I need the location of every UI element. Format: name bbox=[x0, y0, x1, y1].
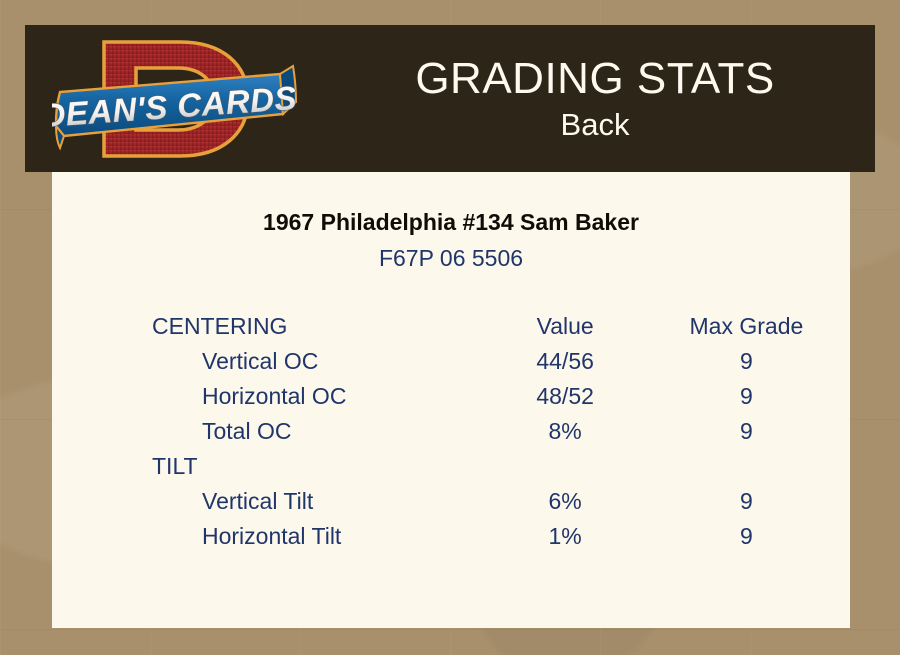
header-title-group: GRADING STATS Back bbox=[315, 25, 875, 172]
card-code: F67P 06 5506 bbox=[52, 243, 850, 273]
section-row-tilt: TILT bbox=[52, 449, 850, 484]
row-value-horizontal-oc: 48/52 bbox=[487, 379, 642, 414]
section-header-centering: CENTERING bbox=[52, 309, 487, 344]
page-subtitle: Back bbox=[561, 105, 630, 145]
header-bar: DEAN'S CARDS GRADING STATS Back bbox=[25, 25, 875, 172]
row-max-grade-horizontal-oc: 9 bbox=[643, 379, 850, 414]
row-label-total-oc: Total OC bbox=[52, 414, 487, 449]
row-label-horizontal-oc: Horizontal OC bbox=[52, 379, 487, 414]
row-value-total-oc: 8% bbox=[487, 414, 642, 449]
logo-artwork: DEAN'S CARDS bbox=[52, 30, 302, 168]
content-panel: 1967 Philadelphia #134 Sam Baker F67P 06… bbox=[52, 172, 850, 628]
column-header-max-grade: Max Grade bbox=[643, 309, 850, 344]
table-row: Horizontal Tilt 1% 9 bbox=[52, 519, 850, 554]
column-header-value: Value bbox=[487, 309, 642, 344]
row-max-grade-horizontal-tilt: 9 bbox=[643, 519, 850, 554]
row-value-vertical-tilt: 6% bbox=[487, 484, 642, 519]
table-row: Vertical OC 44/56 9 bbox=[52, 344, 850, 379]
table-header-row: CENTERING Value Max Grade bbox=[52, 309, 850, 344]
row-max-grade-vertical-tilt: 9 bbox=[643, 484, 850, 519]
row-value-horizontal-tilt: 1% bbox=[487, 519, 642, 554]
row-max-grade-vertical-oc: 9 bbox=[643, 344, 850, 379]
section-spacer-value bbox=[487, 449, 642, 484]
section-header-tilt: TILT bbox=[52, 449, 487, 484]
page-title: GRADING STATS bbox=[415, 53, 774, 105]
card-title: 1967 Philadelphia #134 Sam Baker bbox=[52, 207, 850, 237]
row-value-vertical-oc: 44/56 bbox=[487, 344, 642, 379]
table-row: Horizontal OC 48/52 9 bbox=[52, 379, 850, 414]
row-label-vertical-oc: Vertical OC bbox=[52, 344, 487, 379]
table-row: Vertical Tilt 6% 9 bbox=[52, 484, 850, 519]
table-row: Total OC 8% 9 bbox=[52, 414, 850, 449]
page-root: DEAN'S CARDS GRADING STATS Back 1967 Phi… bbox=[0, 0, 900, 655]
deans-cards-logo[interactable]: DEAN'S CARDS bbox=[52, 30, 302, 168]
section-spacer-max-grade bbox=[643, 449, 850, 484]
row-max-grade-total-oc: 9 bbox=[643, 414, 850, 449]
row-label-vertical-tilt: Vertical Tilt bbox=[52, 484, 487, 519]
row-label-horizontal-tilt: Horizontal Tilt bbox=[52, 519, 487, 554]
grading-stats-table: CENTERING Value Max Grade Vertical OC 44… bbox=[52, 309, 850, 554]
